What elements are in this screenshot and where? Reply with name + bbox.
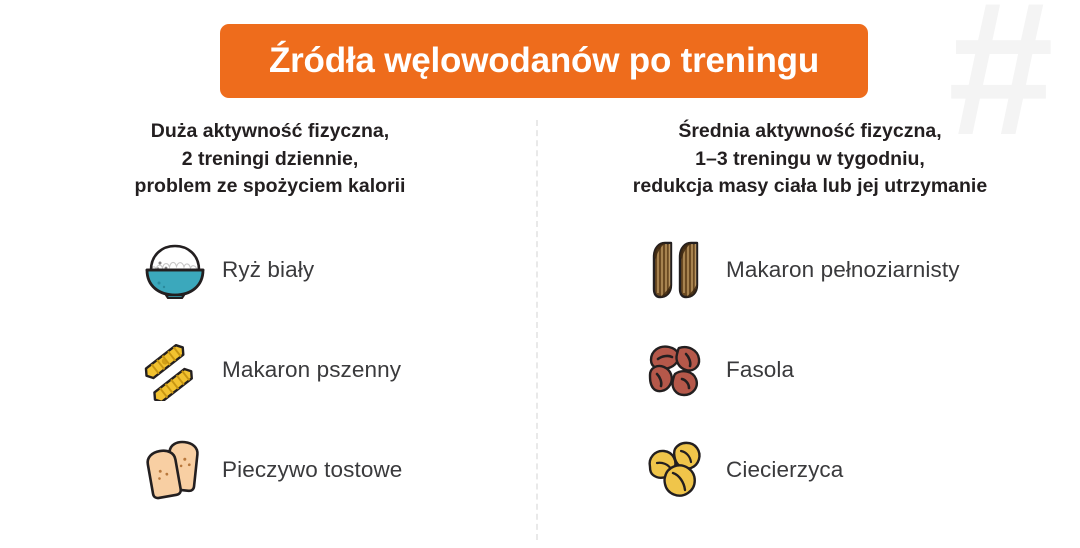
column-high-activity: Duża aktywność fizyczna, 2 treningi dzie… [0,112,540,548]
column-header-medium-activity: Średnia aktywność fizyczna, 1–3 treningu… [540,112,1080,201]
column-medium-activity: Średnia aktywność fizyczna, 1–3 treningu… [540,112,1080,548]
column-header-high-activity: Duża aktywność fizyczna, 2 treningi dzie… [0,112,540,201]
wheat-pasta-icon [136,334,214,406]
list-item-label: Ryż biały [214,257,314,283]
list-item: Ciecierzyca [638,420,1080,520]
header-line: Średnia aktywność fizyczna, [540,118,1080,146]
list-item-label: Ciecierzyca [716,457,843,483]
title-banner: Źródła węlowodanów po treningu [220,24,868,98]
list-item-label: Fasola [716,357,794,383]
list-item-label: Makaron pełnoziarnisty [716,257,960,283]
chickpeas-icon [638,434,716,506]
list-item: Makaron pełnoziarnisty [638,220,1080,320]
beans-icon [638,334,716,406]
list-item: Fasola [638,320,1080,420]
columns-container: Duża aktywność fizyczna, 2 treningi dzie… [0,112,1080,548]
infographic-root: # Źródła węlowodanów po treningu Duża ak… [0,0,1080,548]
header-line: 2 treningi dziennie, [0,146,540,174]
wholegrain-pasta-icon [638,234,716,306]
column-divider [536,120,538,540]
hash-watermark-icon: # [948,0,1080,124]
items-list-medium-activity: Makaron pełnoziarnisty [540,220,1080,520]
header-line: problem ze spożyciem kalorii [0,173,540,201]
rice-bowl-icon [136,234,214,306]
header-line: Duża aktywność fizyczna, [0,118,540,146]
header-line: redukcja masy ciała lub jej utrzymanie [540,173,1080,201]
page-title: Źródła węlowodanów po treningu [269,41,819,81]
toast-bread-icon [136,434,214,506]
list-item-label: Pieczywo tostowe [214,457,402,483]
header-line: 1–3 treningu w tygodniu, [540,146,1080,174]
list-item-label: Makaron pszenny [214,357,401,383]
